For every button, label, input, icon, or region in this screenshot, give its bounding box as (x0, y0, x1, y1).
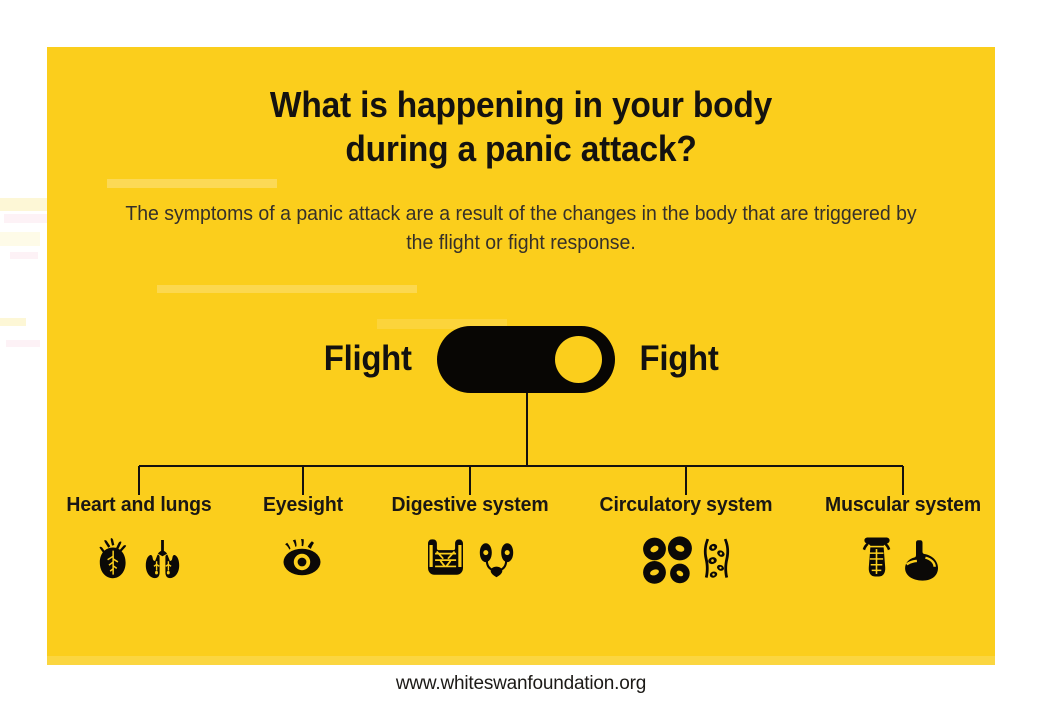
category-label-digestive-system[interactable]: Digestive system (392, 494, 549, 517)
blood-vessel-icon (703, 536, 731, 584)
title-line-1: What is happening in your body (270, 84, 772, 125)
heart-icon (95, 536, 133, 580)
flight-fight-toggle-switch[interactable] (437, 326, 615, 393)
subtitle-text: The symptoms of a panic attack are a res… (118, 199, 924, 257)
toggle-label-fight: Fight (639, 339, 718, 379)
background-artifact (0, 318, 26, 326)
connector-tree (0, 393, 1042, 473)
flexed-bicep-icon (902, 538, 946, 582)
page-title: What is happening in your body during a … (80, 83, 962, 171)
footer-url[interactable]: www.whiteswanfoundation.org (0, 673, 1042, 695)
flight-fight-toggle-row: Flight Fight (47, 319, 995, 399)
category-label-muscular-system[interactable]: Muscular system (825, 494, 981, 517)
background-artifact (10, 252, 38, 259)
icon-group-muscular-system (861, 536, 946, 582)
category-label-heart-and-lungs[interactable]: Heart and lungs (66, 494, 211, 517)
blood-cells-icon (642, 536, 694, 584)
toggle-knob[interactable] (555, 336, 602, 383)
icon-group-circulatory-system (642, 536, 731, 584)
category-label-circulatory-system[interactable]: Circulatory system (600, 494, 773, 517)
title-line-2: during a panic attack? (80, 127, 962, 171)
icon-group-heart-and-lungs (95, 536, 184, 580)
background-artifact (0, 232, 40, 246)
background-artifact (107, 179, 277, 188)
category-label-eyesight[interactable]: Eyesight (263, 494, 343, 517)
lungs-icon (142, 538, 184, 580)
background-artifact (157, 285, 417, 293)
background-artifact (6, 340, 40, 347)
icon-group-digestive-system (424, 536, 517, 578)
connector-tails (0, 473, 1042, 495)
toggle-label-flight: Flight (324, 339, 412, 379)
intestines-icon (424, 536, 468, 578)
eye-icon (279, 536, 327, 578)
poster-panel: What is happening in your body during a … (47, 47, 995, 665)
background-artifact (4, 214, 50, 223)
kidneys-bladder-icon (477, 536, 517, 578)
icon-group-eyesight (279, 536, 327, 578)
torso-icon (861, 536, 893, 582)
infographic-canvas: What is happening in your body during a … (0, 0, 1042, 717)
